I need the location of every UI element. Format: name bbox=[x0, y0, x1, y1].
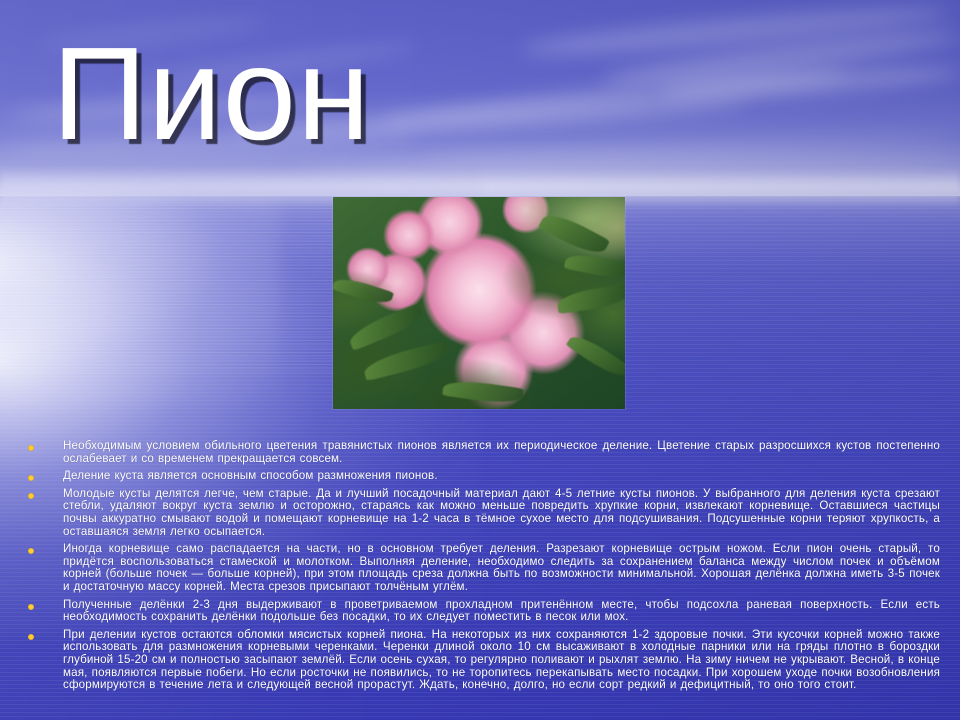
list-item: При делении кустов остаются обломки мяси… bbox=[28, 629, 940, 692]
list-item: Необходимым условием обильного цветения … bbox=[28, 440, 940, 465]
sun-reflection-core bbox=[0, 196, 280, 406]
leaf-shape-icon bbox=[538, 208, 610, 260]
leaf-shape-icon bbox=[362, 341, 450, 381]
list-item: Полученные делёнки 2-3 дня выдерживают в… bbox=[28, 599, 940, 624]
peony-photo bbox=[333, 197, 625, 409]
cloud-wisp-icon bbox=[520, 0, 951, 63]
bullet-list: Необходимым условием обильного цветения … bbox=[28, 440, 940, 697]
cloud-wisp-icon bbox=[380, 62, 850, 135]
leaf-shape-icon bbox=[442, 378, 524, 407]
leaf-shape-icon bbox=[564, 251, 625, 282]
peony-photo-image bbox=[333, 197, 625, 409]
bullet-dot-icon bbox=[28, 604, 34, 610]
list-item: Иногда корневище само распадается на час… bbox=[28, 543, 940, 593]
list-item: Молодые кусты делятся легче, чем старые.… bbox=[28, 488, 940, 538]
leaf-shape-icon bbox=[556, 284, 625, 314]
leaf-shape-icon bbox=[333, 274, 394, 308]
list-item-text: Полученные делёнки 2-3 дня выдерживают в… bbox=[63, 599, 940, 624]
cloud-wisp-icon bbox=[600, 26, 960, 90]
list-item-text: Иногда корневище само распадается на час… bbox=[63, 543, 940, 593]
leaf-shape-icon bbox=[346, 303, 426, 351]
bullet-dot-icon bbox=[28, 634, 34, 640]
cloud-wisp-icon bbox=[420, 131, 960, 166]
list-item-text: Деление куста является основным способом… bbox=[63, 470, 940, 483]
page-title: Пион bbox=[52, 28, 371, 160]
bullet-dot-icon bbox=[28, 475, 34, 481]
bullet-dot-icon bbox=[28, 493, 34, 499]
list-item-text: Необходимым условием обильного цветения … bbox=[63, 440, 940, 465]
list-item: Деление куста является основным способом… bbox=[28, 470, 940, 483]
list-item-text: Молодые кусты делятся легче, чем старые.… bbox=[63, 488, 940, 538]
bullet-dot-icon bbox=[28, 445, 34, 451]
leaf-shape-icon bbox=[566, 330, 625, 382]
cloud-wisp-icon bbox=[660, 62, 960, 105]
bullet-dot-icon bbox=[28, 548, 34, 554]
list-item-text: При делении кустов остаются обломки мяси… bbox=[63, 629, 940, 692]
presentation-slide: Пион Необходимым условием обильного цвет… bbox=[0, 0, 960, 720]
